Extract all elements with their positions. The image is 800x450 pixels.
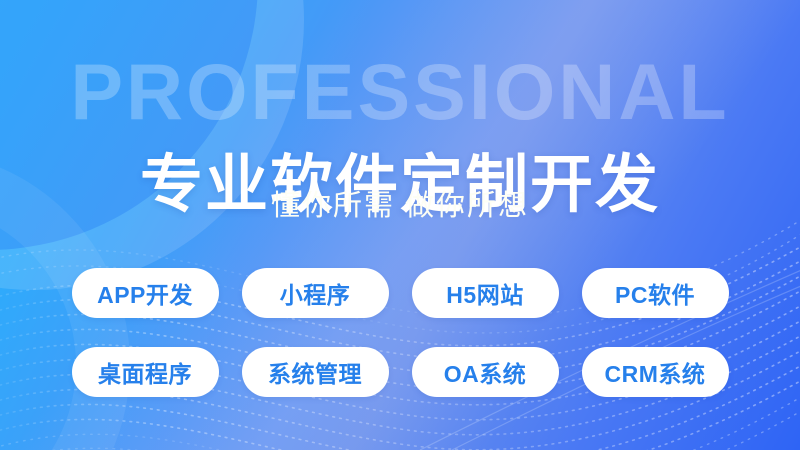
- service-pill-oa-system[interactable]: OA系统: [412, 347, 559, 397]
- service-pill-grid: APP开发 小程序 H5网站 PC软件 桌面程序 系统管理 OA系统: [0, 268, 800, 397]
- service-pill-label: OA系统: [444, 355, 527, 389]
- service-pill-row: 桌面程序 系统管理 OA系统 CRM系统: [0, 347, 800, 397]
- service-pill-label: 小程序: [280, 276, 351, 310]
- service-pill-label: PC软件: [615, 276, 695, 310]
- service-pill-label: H5网站: [446, 276, 523, 310]
- service-pill-app-development[interactable]: APP开发: [72, 268, 219, 318]
- service-pill-mini-program[interactable]: 小程序: [242, 268, 389, 318]
- watermark-text: PROFESSIONAL: [0, 52, 800, 131]
- service-pill-system-management[interactable]: 系统管理: [242, 347, 389, 397]
- promo-banner: PROFESSIONAL 专业软件定制开发 懂你所需 做你所想 APP开发 小程…: [0, 0, 800, 450]
- service-pill-label: CRM系统: [605, 355, 706, 389]
- service-pill-h5-website[interactable]: H5网站: [412, 268, 559, 318]
- page-subtitle: 懂你所需 做你所想: [0, 188, 800, 226]
- service-pill-label: 桌面程序: [98, 355, 192, 389]
- service-pill-crm-system[interactable]: CRM系统: [582, 347, 729, 397]
- service-pill-label: 系统管理: [268, 355, 362, 389]
- service-pill-label: APP开发: [97, 276, 193, 310]
- service-pill-row: APP开发 小程序 H5网站 PC软件: [0, 268, 800, 318]
- service-pill-desktop-program[interactable]: 桌面程序: [72, 347, 219, 397]
- service-pill-pc-software[interactable]: PC软件: [582, 268, 729, 318]
